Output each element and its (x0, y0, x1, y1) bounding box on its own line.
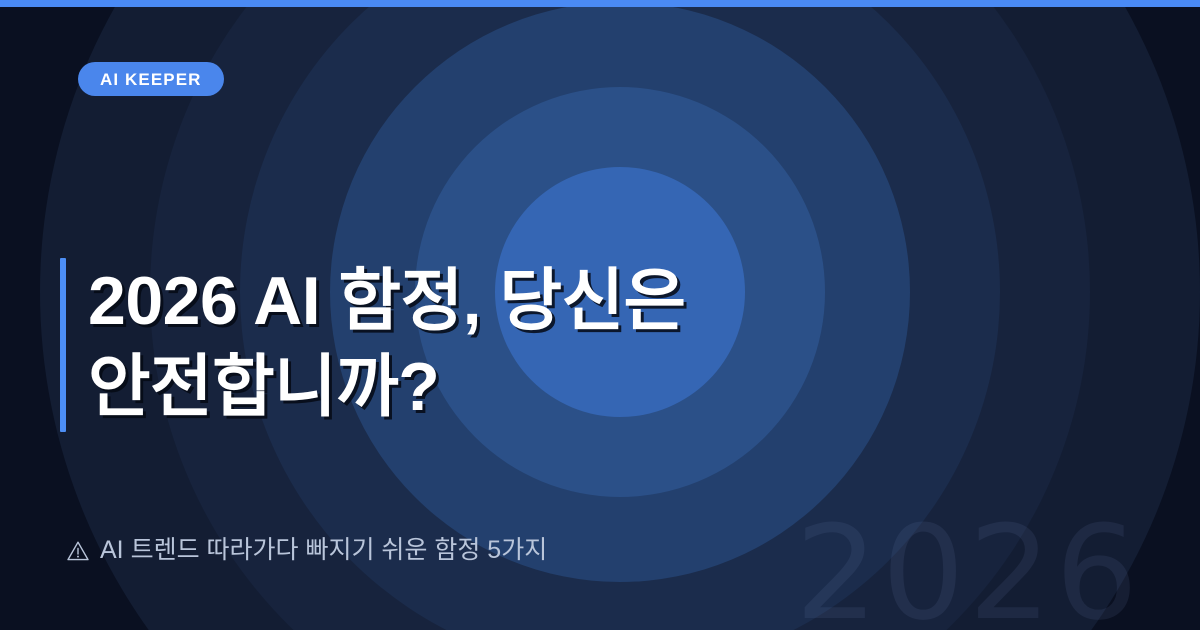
hero-card: 2026 AI KEEPER 2026 AI 함정, 당신은 안전합니까? AI… (0, 0, 1200, 630)
title-accent-bar (60, 258, 66, 432)
title-line-1: 2026 AI 함정, 당신은 (88, 258, 686, 344)
page-title: 2026 AI 함정, 당신은 안전합니까? (60, 258, 686, 432)
year-watermark: 2026 (795, 508, 1142, 630)
warning-triangle-icon (66, 539, 90, 563)
subtitle-text: AI 트렌드 따라가다 빠지기 쉬운 함정 5가지 (100, 538, 547, 563)
brand-badge-label: AI KEEPER (100, 71, 202, 88)
subtitle: AI 트렌드 따라가다 빠지기 쉬운 함정 5가지 (66, 538, 547, 563)
title-line-2: 안전합니까? (88, 344, 686, 430)
title-text: 2026 AI 함정, 당신은 안전합니까? (88, 258, 686, 432)
top-accent-bar (0, 0, 1200, 7)
brand-badge[interactable]: AI KEEPER (78, 62, 224, 96)
